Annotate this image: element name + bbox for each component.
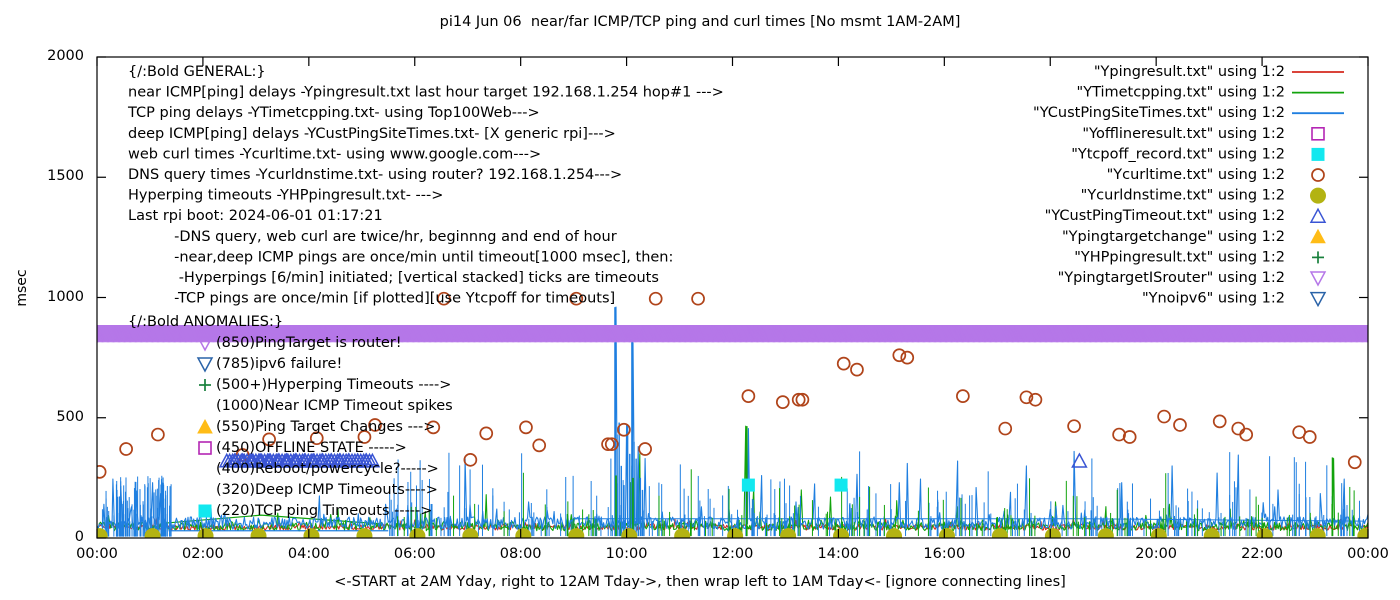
x-tick-label: 00:00 [62, 546, 132, 562]
general-line: Hyperping timeouts -YHPpingresult.txt- -… [128, 188, 443, 204]
legend-label[interactable]: "Ypingtargetchange" using 1:2 [1062, 229, 1285, 245]
legend-label[interactable]: "YTimetcpping.txt" using 1:2 [1077, 85, 1285, 101]
x-tick-label: 12:00 [698, 546, 768, 562]
anomaly-label: (450)OFFLINE STATE -----> [216, 440, 407, 456]
x-tick-label: 10:00 [592, 546, 662, 562]
anomalies-annotation-block: {/:Bold ANOMALIES:}(850)PingTarget is ro… [128, 314, 453, 519]
x-tick-label: 02:00 [168, 546, 238, 562]
series-ytcpoff [742, 479, 847, 491]
legend-label[interactable]: "Ypingresult.txt" using 1:2 [1094, 64, 1285, 80]
anomaly-label: (220)TCP ping Timeouts -----> [216, 503, 432, 519]
x-tick-label: 18:00 [1015, 546, 1085, 562]
anomaly-label: (320)Deep ICMP Timeouts----> [216, 482, 438, 498]
y-tick-label: 1000 [28, 289, 84, 305]
chart-legend: "Ypingresult.txt" using 1:2"YTimetcpping… [1033, 64, 1344, 307]
general-line: Last rpi boot: 2024-06-01 01:17:21 [128, 208, 383, 224]
x-tick-label: 08:00 [486, 546, 556, 562]
legend-label[interactable]: "YCustPingSiteTimes.txt" using 1:2 [1033, 105, 1285, 121]
y-tick-label: 500 [28, 409, 84, 425]
general-line: DNS query times -Ycurldnstime.txt- using… [128, 167, 622, 183]
general-line: web curl times -Ycurltime.txt- using www… [128, 146, 541, 162]
x-tick-label: 06:00 [380, 546, 450, 562]
x-tick-label: 14:00 [803, 546, 873, 562]
anomaly-label: (785)ipv6 failure! [216, 356, 342, 372]
legend-label[interactable]: "Yofflineresult.txt" using 1:2 [1082, 126, 1285, 142]
anomalies-heading: {/:Bold ANOMALIES:} [128, 314, 283, 330]
legend-label[interactable]: "YCustPingTimeout.txt" using 1:2 [1045, 208, 1285, 224]
legend-label[interactable]: "Ycurldnstime.txt" using 1:2 [1081, 188, 1285, 204]
legend-label[interactable]: "YHPpingresult.txt" using 1:2 [1074, 249, 1285, 265]
x-tick-label: 16:00 [909, 546, 979, 562]
general-line: -Hyperpings [6/min] initiated; [vertical… [128, 270, 659, 286]
general-line: TCP ping delays -YTimetcpping.txt- using… [127, 105, 540, 121]
x-tick-label: 20:00 [1121, 546, 1191, 562]
anomaly-label: (500+)Hyperping Timeouts ----> [216, 377, 451, 393]
anomaly-label: (1000)Near ICMP Timeout spikes [216, 398, 453, 414]
general-line: deep ICMP[ping] delays -YCustPingSiteTim… [128, 126, 616, 142]
y-tick-label: 2000 [28, 48, 84, 64]
general-line: -TCP pings are once/min [if plotted][use… [128, 291, 615, 307]
y-tick-label: 1500 [28, 168, 84, 184]
legend-label[interactable]: "Ycurltime.txt" using 1:2 [1107, 167, 1285, 183]
x-tick-label: 22:00 [1227, 546, 1297, 562]
legend-label[interactable]: "Ynoipv6" using 1:2 [1142, 291, 1285, 307]
legend-label[interactable]: "YpingtargetISrouter" using 1:2 [1058, 270, 1285, 286]
plot-area: {/:Bold GENERAL:}near ICMP[ping] delays … [0, 0, 1400, 600]
general-line: near ICMP[ping] delays -Ypingresult.txt … [128, 85, 724, 101]
general-heading: {/:Bold GENERAL:} [128, 64, 266, 80]
legend-label[interactable]: "Ytcpoff_record.txt" using 1:2 [1071, 146, 1285, 162]
x-tick-label: 00:00 [1333, 546, 1400, 562]
general-annotation-block: {/:Bold GENERAL:}near ICMP[ping] delays … [127, 64, 724, 307]
general-line: -near,deep ICMP pings are once/min until… [128, 249, 673, 265]
general-line: -DNS query, web curl are twice/hr, begin… [128, 229, 617, 245]
y-tick-label: 0 [28, 529, 84, 545]
anomaly-label: (550)Ping Target Changes ---> [216, 419, 435, 435]
anomaly-label: (850)PingTarget is router! [216, 335, 402, 351]
chart-page: pi14 Jun 06 near/far ICMP/TCP ping and c… [0, 0, 1400, 600]
x-tick-label: 04:00 [274, 546, 344, 562]
anomaly-label: (400)Reboot/powercycle?-----> [216, 461, 439, 477]
